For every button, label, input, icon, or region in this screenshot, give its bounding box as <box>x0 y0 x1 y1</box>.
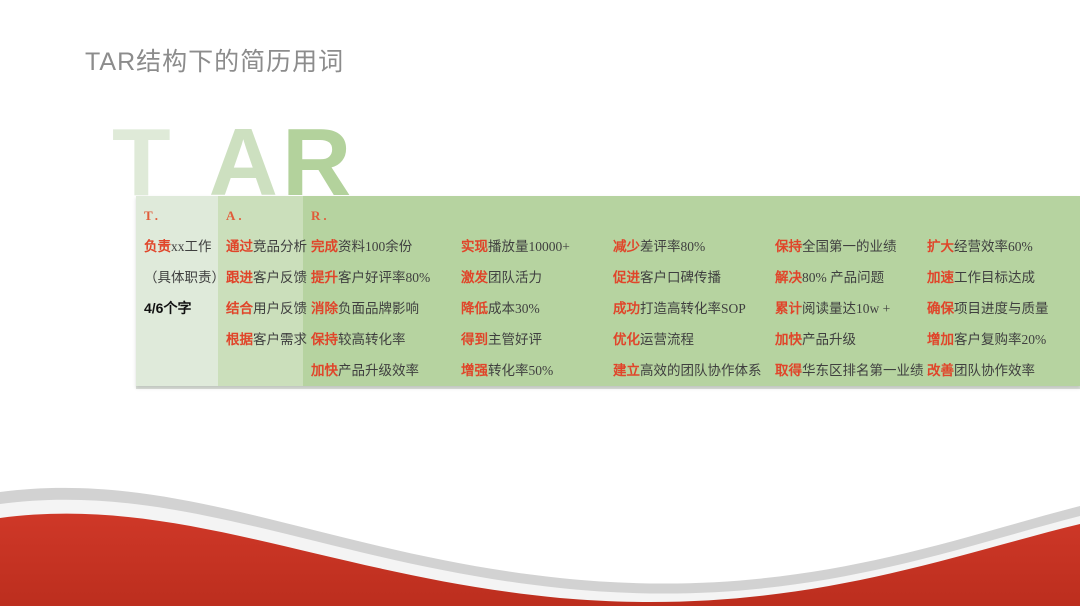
phrase-item: 优化运营流程 <box>605 324 767 355</box>
phrase-body: 客户复购率20% <box>954 332 1046 347</box>
phrase-item: 促进客户口碑传播 <box>605 262 767 293</box>
phrase-body: 项目进度与质量 <box>954 301 1049 316</box>
phrase-item: 加速工作目标达成 <box>919 262 1080 293</box>
phrase-keyword: 跟进 <box>226 270 253 285</box>
phrase-body: 客户反馈 <box>253 270 307 285</box>
phrase-keyword: 促进 <box>613 270 640 285</box>
table-column-5: 减少差评率80%促进客户口碑传播成功打造高转化率SOP优化运营流程建立高效的团队… <box>605 196 767 386</box>
column-header <box>919 205 1080 231</box>
page-title: TAR结构下的简历用词 <box>85 42 344 78</box>
phrase-body: 华东区排名第一业绩 <box>802 363 924 378</box>
phrase-keyword: 结合 <box>226 301 253 316</box>
phrase-item: 结合用户反馈 <box>218 293 303 324</box>
column-entries: 实现播放量10000+激发团队活力降低成本30%得到主管好评增强转化率50% <box>453 231 605 386</box>
phrase-item: 4/6个字 <box>136 293 218 324</box>
phrase-body: 阅读量达10w + <box>802 301 890 316</box>
bottom-wave-decoration <box>0 446 1080 606</box>
watermark-letter-t: T <box>112 118 169 208</box>
phrase-item: 增加客户复购率20% <box>919 324 1080 355</box>
phrase-body: 负面品牌影响 <box>338 301 419 316</box>
phrase-item: 完成资料100余份 <box>303 231 453 262</box>
phrase-keyword: 解决 <box>775 270 802 285</box>
column-header: R. <box>303 205 453 231</box>
phrase-item: 得到主管好评 <box>453 324 605 355</box>
phrase-body: 高效的团队协作体系 <box>640 363 762 378</box>
phrase-keyword: 保持 <box>311 332 338 347</box>
column-entries: 扩大经营效率60%加速工作目标达成确保项目进度与质量增加客户复购率20%改善团队… <box>919 231 1080 386</box>
phrase-keyword: 优化 <box>613 332 640 347</box>
phrase-item: 累计阅读量达10w + <box>767 293 919 324</box>
phrase-keyword: 取得 <box>775 363 802 378</box>
phrase-item: 实现播放量10000+ <box>453 231 605 262</box>
column-header: T. <box>136 205 218 231</box>
phrase-item: 负责xx工作 <box>136 231 218 262</box>
phrase-body: 用户反馈 <box>253 301 307 316</box>
phrase-item: 解决80% 产品问题 <box>767 262 919 293</box>
phrase-body: 客户好评率80% <box>338 270 430 285</box>
phrase-keyword: 扩大 <box>927 239 954 254</box>
phrase-body: 竞品分析 <box>253 239 307 254</box>
phrase-keyword: 加快 <box>775 332 802 347</box>
column-entries: 负责xx工作（具体职责）4/6个字 <box>136 231 218 386</box>
phrase-item: 改善团队协作效率 <box>919 355 1080 386</box>
phrase-keyword: 加速 <box>927 270 954 285</box>
phrase-keyword: 累计 <box>775 301 802 316</box>
watermark-tar: TAR <box>112 118 412 208</box>
phrase-item: 减少差评率80% <box>605 231 767 262</box>
watermark-letter-a: A <box>209 118 276 208</box>
column-header <box>767 205 919 231</box>
phrase-item: 建立高效的团队协作体系 <box>605 355 767 386</box>
phrase-body: 运营流程 <box>640 332 694 347</box>
phrase-item: 取得华东区排名第一业绩 <box>767 355 919 386</box>
phrase-body: 全国第一的业绩 <box>802 239 897 254</box>
column-header: A. <box>218 205 303 231</box>
column-entries: 保持全国第一的业绩解决80% 产品问题累计阅读量达10w +加快产品升级取得华东… <box>767 231 919 386</box>
column-entries: 完成资料100余份提升客户好评率80%消除负面品牌影响保持较高转化率加快产品升级… <box>303 231 453 386</box>
table-column-1: T.负责xx工作（具体职责）4/6个字 <box>136 196 218 386</box>
phrase-body: 经营效率60% <box>954 239 1033 254</box>
phrase-keyword: 通过 <box>226 239 253 254</box>
phrase-item: 保持较高转化率 <box>303 324 453 355</box>
phrase-item: 降低成本30% <box>453 293 605 324</box>
phrase-body: 资料100余份 <box>338 239 412 254</box>
column-entries: 减少差评率80%促进客户口碑传播成功打造高转化率SOP优化运营流程建立高效的团队… <box>605 231 767 386</box>
phrase-item: 提升客户好评率80% <box>303 262 453 293</box>
table-column-7: 扩大经营效率60%加速工作目标达成确保项目进度与质量增加客户复购率20%改善团队… <box>919 196 1080 386</box>
phrase-body: 客户口碑传播 <box>640 270 721 285</box>
phrase-keyword: 改善 <box>927 363 954 378</box>
phrase-body: 产品升级效率 <box>338 363 419 378</box>
phrase-body: 工作目标达成 <box>954 270 1035 285</box>
phrase-body: 团队协作效率 <box>954 363 1035 378</box>
phrase-body: 打造高转化率SOP <box>640 301 746 316</box>
phrase-item: 跟进客户反馈 <box>218 262 303 293</box>
table-column-3: R.完成资料100余份提升客户好评率80%消除负面品牌影响保持较高转化率加快产品… <box>303 196 453 386</box>
phrase-keyword: 完成 <box>311 239 338 254</box>
phrase-body: 成本30% <box>488 301 540 316</box>
watermark-letter-r: R <box>282 118 349 208</box>
phrase-keyword: 增加 <box>927 332 954 347</box>
phrase-keyword: 增强 <box>461 363 488 378</box>
phrase-body: 客户需求 <box>253 332 307 347</box>
phrase-keyword: 实现 <box>461 239 488 254</box>
phrase-item: 加快产品升级效率 <box>303 355 453 386</box>
phrase-keyword: 建立 <box>613 363 640 378</box>
phrase-keyword: 激发 <box>461 270 488 285</box>
phrase-keyword: 根据 <box>226 332 253 347</box>
phrase-keyword: 确保 <box>927 301 954 316</box>
column-header <box>453 205 605 231</box>
phrase-item: 保持全国第一的业绩 <box>767 231 919 262</box>
phrase-keyword: 降低 <box>461 301 488 316</box>
phrase-keyword: 负责 <box>144 239 171 254</box>
tar-word-table: T.负责xx工作（具体职责）4/6个字A.通过竞品分析跟进客户反馈结合用户反馈根… <box>136 196 1080 386</box>
phrase-body: 转化率50% <box>488 363 553 378</box>
phrase-body: 主管好评 <box>488 332 542 347</box>
phrase-keyword: 消除 <box>311 301 338 316</box>
phrase-keyword: 成功 <box>613 301 640 316</box>
phrase-item: 确保项目进度与质量 <box>919 293 1080 324</box>
phrase-item: 扩大经营效率60% <box>919 231 1080 262</box>
phrase-body: 80% 产品问题 <box>802 270 884 285</box>
phrase-body: 产品升级 <box>802 332 856 347</box>
phrase-keyword: 保持 <box>775 239 802 254</box>
column-entries: 通过竞品分析跟进客户反馈结合用户反馈根据客户需求 <box>218 231 303 386</box>
table-column-6: 保持全国第一的业绩解决80% 产品问题累计阅读量达10w +加快产品升级取得华东… <box>767 196 919 386</box>
phrase-body: xx工作 <box>171 239 212 254</box>
phrase-item: 成功打造高转化率SOP <box>605 293 767 324</box>
phrase-item: 加快产品升级 <box>767 324 919 355</box>
phrase-item: 根据客户需求 <box>218 324 303 355</box>
phrase-item: （具体职责） <box>136 262 218 293</box>
phrase-keyword: 得到 <box>461 332 488 347</box>
phrase-item: 增强转化率50% <box>453 355 605 386</box>
phrase-item: 通过竞品分析 <box>218 231 303 262</box>
phrase-item: 激发团队活力 <box>453 262 605 293</box>
table-column-4: 实现播放量10000+激发团队活力降低成本30%得到主管好评增强转化率50% <box>453 196 605 386</box>
phrase-item: 消除负面品牌影响 <box>303 293 453 324</box>
phrase-body: 播放量10000+ <box>488 239 570 254</box>
phrase-keyword: 提升 <box>311 270 338 285</box>
phrase-keyword: 减少 <box>613 239 640 254</box>
table-column-2: A.通过竞品分析跟进客户反馈结合用户反馈根据客户需求 <box>218 196 303 386</box>
phrase-body: 团队活力 <box>488 270 542 285</box>
phrase-body: 较高转化率 <box>338 332 406 347</box>
column-header <box>605 205 767 231</box>
phrase-body: 差评率80% <box>640 239 705 254</box>
phrase-keyword: 加快 <box>311 363 338 378</box>
